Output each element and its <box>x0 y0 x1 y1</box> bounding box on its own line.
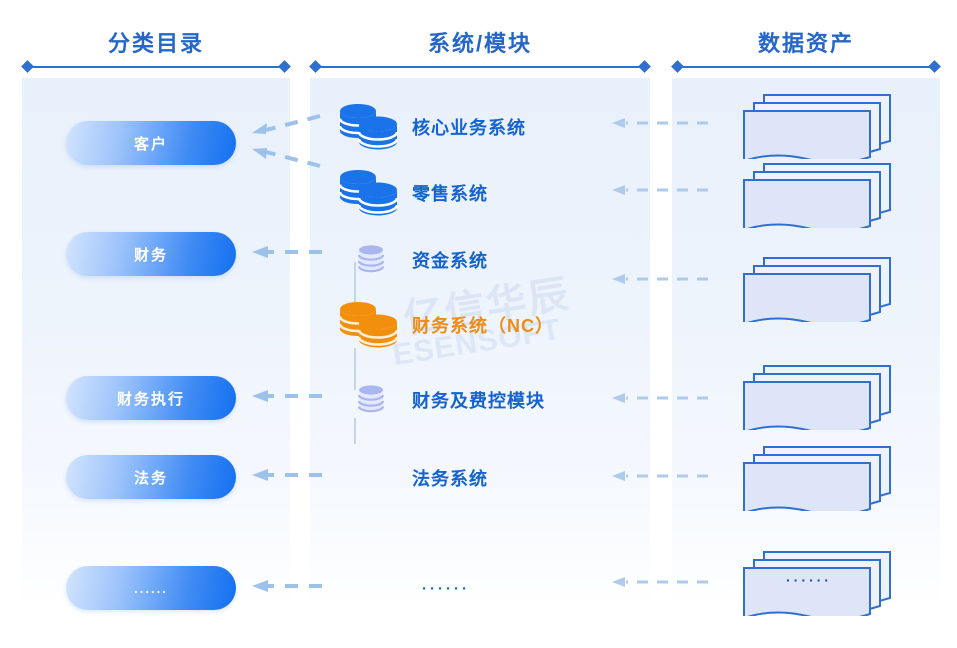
rule-bar <box>29 66 283 68</box>
rule-bar <box>317 66 643 68</box>
column-title-catalog: 分类目录 <box>22 26 290 58</box>
rule-bar <box>679 66 933 68</box>
system-row-label: 财务系统（NC） <box>412 312 554 338</box>
diagram-canvas: 分类目录 系统/模块 数据资产 亿信华辰 ESENSOFT 客户 财务 <box>0 0 957 648</box>
arrow-system-to-catalog <box>252 390 326 402</box>
system-row-legal[interactable]: 法务系统 <box>310 452 650 504</box>
catalog-pill-label: 客户 <box>134 133 168 154</box>
database-stack-blue-icon <box>338 102 400 152</box>
asset-doc-stack[interactable] <box>740 362 892 430</box>
database-small-lavender-icon <box>354 243 388 277</box>
arrow-asset-to-system <box>612 184 712 196</box>
database-small-lavender-icon <box>354 383 388 417</box>
asset-doc-stack[interactable] <box>740 443 892 511</box>
asset-doc-stack-more-label: ······ <box>752 572 866 588</box>
system-row-retail[interactable]: 零售系统 <box>310 167 650 219</box>
catalog-pill-finance[interactable]: 财务 <box>66 232 236 276</box>
arrow-asset-to-system <box>612 273 712 285</box>
system-row-label: ······ <box>422 581 470 598</box>
database-stack-blue-icon <box>338 168 400 218</box>
column-title-assets: 数据资产 <box>672 26 940 58</box>
arrow-asset-to-system <box>612 470 712 482</box>
system-row-label: 核心业务系统 <box>412 114 526 140</box>
catalog-pill-label: 财务 <box>134 244 168 265</box>
rule-diamond-right-icon <box>278 60 291 73</box>
system-row-treasury[interactable]: 资金系统 <box>310 234 650 286</box>
arrow-system-to-catalog <box>252 246 326 258</box>
system-row-label: 法务系统 <box>412 465 488 491</box>
arrow-asset-to-system <box>612 117 712 129</box>
asset-doc-stack[interactable] <box>740 160 892 228</box>
catalog-pill-label: 财务执行 <box>117 388 185 409</box>
system-row-more[interactable]: ······ <box>310 563 650 615</box>
catalog-pill-label: ...... <box>134 581 168 596</box>
catalog-pill-finance-exec[interactable]: 财务执行 <box>66 376 236 420</box>
catalog-pill-more[interactable]: ...... <box>66 566 236 610</box>
column-title-systems: 系统/模块 <box>310 26 650 58</box>
column-rule-systems <box>310 62 650 72</box>
rule-diamond-right-icon <box>638 60 651 73</box>
asset-doc-stack[interactable] <box>740 254 892 322</box>
catalog-pill-customer[interactable]: 客户 <box>66 121 236 165</box>
asset-doc-stack[interactable] <box>740 91 892 159</box>
arrow-asset-to-system <box>612 576 712 588</box>
arrow-system-to-catalog-diagonal-down <box>252 144 326 170</box>
arrow-system-to-catalog <box>252 580 326 592</box>
column-rule-assets <box>672 62 940 72</box>
column-rule-catalog <box>22 62 290 72</box>
system-row-label: 零售系统 <box>412 180 488 206</box>
arrow-system-to-catalog <box>252 469 326 481</box>
system-row-core[interactable]: 核心业务系统 <box>310 101 650 153</box>
system-row-expense-module[interactable]: 财务及费控模块 <box>310 374 650 426</box>
arrow-system-to-catalog-diagonal-up <box>252 112 326 138</box>
system-row-label: 财务及费控模块 <box>412 387 545 413</box>
system-row-finance-nc[interactable]: 财务系统（NC） <box>310 299 650 351</box>
system-row-label: 资金系统 <box>412 247 488 273</box>
catalog-pill-label: 法务 <box>134 467 168 488</box>
catalog-pill-legal[interactable]: 法务 <box>66 455 236 499</box>
arrow-asset-to-system <box>612 392 712 404</box>
rule-diamond-right-icon <box>928 60 941 73</box>
database-stack-orange-icon <box>338 300 400 350</box>
